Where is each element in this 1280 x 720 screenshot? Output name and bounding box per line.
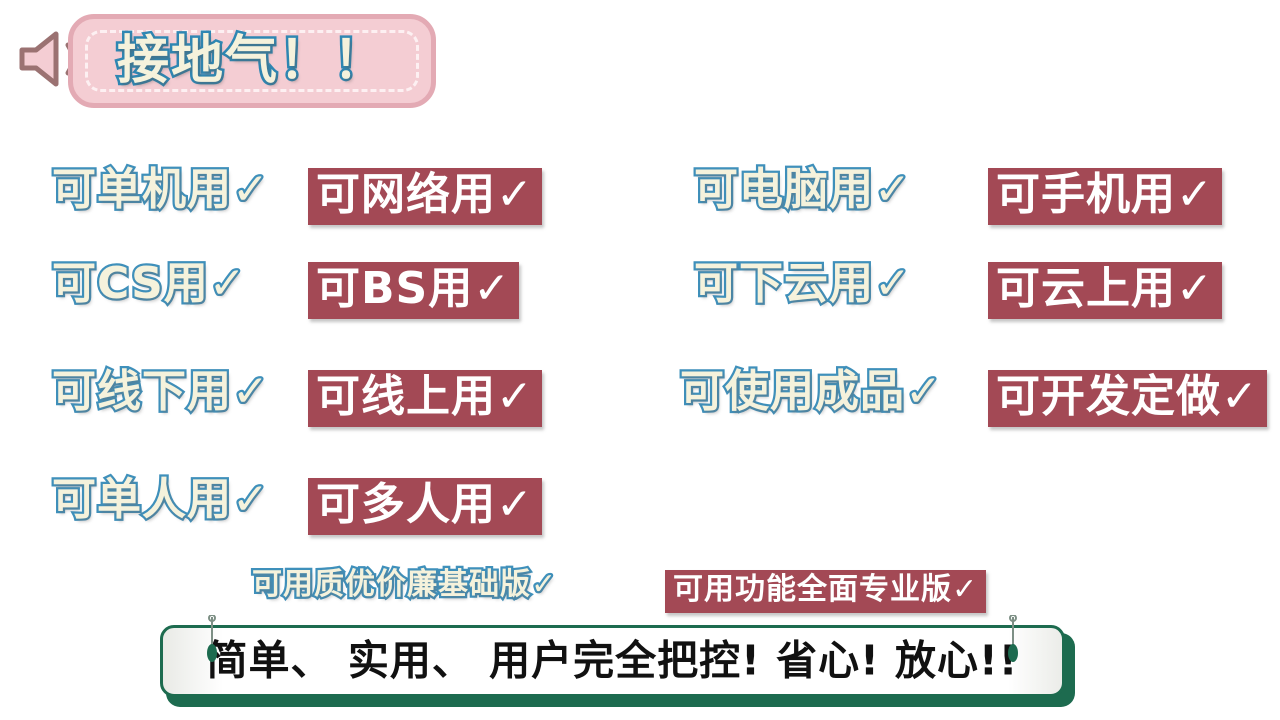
feature-label: 可开发定做 xyxy=(996,371,1221,422)
feature-label: 可电脑用 xyxy=(694,164,874,215)
title-banner: 接地气！！ xyxy=(68,14,436,108)
feature-ready-made: 可使用成品✓ xyxy=(680,370,943,414)
feature-label: 可单机用 xyxy=(52,164,232,215)
check-icon: ✓ xyxy=(496,479,534,530)
feature-label: 可线下用 xyxy=(52,366,232,417)
feature-single-machine: 可单机用✓ xyxy=(52,168,270,212)
banner-body: 简单、 实用、 用户完全把控! 省心! 放心!! xyxy=(160,625,1065,697)
feature-network: 可网络用✓ xyxy=(308,168,542,225)
check-icon: ✓ xyxy=(473,263,511,314)
check-icon: ✓ xyxy=(232,164,270,215)
check-icon: ✓ xyxy=(232,474,270,525)
header: 接地气！！ xyxy=(0,8,470,108)
push-pin-icon xyxy=(204,615,220,667)
feature-custom-dev: 可开发定做✓ xyxy=(988,370,1267,427)
feature-professional-edition: 可用功能全面专业版✓ xyxy=(665,570,986,613)
footer-slogan: 简单、 实用、 用户完全把控! 省心! 放心!! xyxy=(163,641,1062,682)
feature-label: 可下云用 xyxy=(694,258,874,309)
feature-offcloud: 可下云用✓ xyxy=(694,262,912,306)
feature-cs-mode: 可CS用✓ xyxy=(52,262,247,306)
feature-basic-edition: 可用质优价廉基础版✓ xyxy=(252,570,557,600)
feature-oncloud: 可云上用✓ xyxy=(988,262,1222,319)
feature-label: 可CS用 xyxy=(52,258,209,309)
feature-multi-user: 可多人用✓ xyxy=(308,478,542,535)
check-icon: ✓ xyxy=(1176,169,1214,220)
feature-label: 可用质优价廉基础版 xyxy=(252,567,531,602)
feature-label: 可用功能全面专业版 xyxy=(673,572,952,607)
check-icon: ✓ xyxy=(232,366,270,417)
check-icon: ✓ xyxy=(531,567,557,602)
check-icon: ✓ xyxy=(496,169,534,220)
feature-bs-mode: 可BS用✓ xyxy=(308,262,519,319)
feature-online: 可线上用✓ xyxy=(308,370,542,427)
feature-offline: 可线下用✓ xyxy=(52,370,270,414)
check-icon: ✓ xyxy=(952,572,978,607)
feature-label: 可云上用 xyxy=(996,263,1176,314)
push-pin-icon xyxy=(1005,615,1021,667)
feature-label: 可单人用 xyxy=(52,474,232,525)
feature-label: 可BS用 xyxy=(316,263,473,314)
feature-label: 可多人用 xyxy=(316,479,496,530)
check-icon: ✓ xyxy=(496,371,534,422)
page-title: 接地气！！ xyxy=(73,35,431,87)
feature-label: 可线上用 xyxy=(316,371,496,422)
feature-computer: 可电脑用✓ xyxy=(694,168,912,212)
check-icon: ✓ xyxy=(905,366,943,417)
check-icon: ✓ xyxy=(874,164,912,215)
footer-banner: 简单、 实用、 用户完全把控! 省心! 放心!! xyxy=(160,625,1075,707)
feature-single-user: 可单人用✓ xyxy=(52,478,270,522)
feature-mobile: 可手机用✓ xyxy=(988,168,1222,225)
check-icon: ✓ xyxy=(1221,371,1259,422)
feature-label: 可使用成品 xyxy=(680,366,905,417)
check-icon: ✓ xyxy=(209,258,247,309)
feature-label: 可网络用 xyxy=(316,169,496,220)
check-icon: ✓ xyxy=(1176,263,1214,314)
check-icon: ✓ xyxy=(874,258,912,309)
feature-label: 可手机用 xyxy=(996,169,1176,220)
